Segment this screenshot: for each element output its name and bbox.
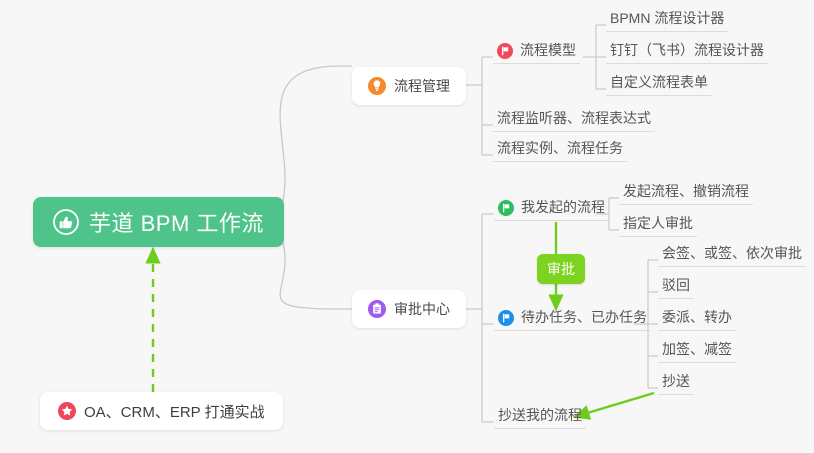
mindmap-canvas: 芋道 BPM 工作流 流程管理 流程模型 BPMN 流程设计器 钉钉（飞书）流程 [0, 0, 814, 453]
node-dingtalk-feishu-designer[interactable]: 钉钉（飞书）流程设计器 [606, 38, 768, 64]
node-process-model-label: 流程模型 [520, 41, 576, 59]
flag-icon [498, 200, 514, 216]
node-reject[interactable]: 驳回 [658, 273, 694, 299]
node-cc-to-me-label: 抄送我的流程 [498, 406, 582, 424]
node-process-model[interactable]: 流程模型 [493, 38, 580, 64]
integration-card-label: OA、CRM、ERP 打通实战 [84, 401, 265, 422]
flag-icon [497, 43, 513, 59]
connector-root-to-approval-center [280, 236, 352, 309]
node-start-cancel-label: 发起流程、撤销流程 [623, 182, 749, 200]
node-instance-task[interactable]: 流程实例、流程任务 [493, 136, 627, 162]
branch-process-management[interactable]: 流程管理 [352, 67, 466, 105]
node-start-cancel[interactable]: 发起流程、撤销流程 [619, 179, 753, 205]
node-add-remove-sign[interactable]: 加签、减签 [658, 337, 736, 363]
connector-root-to-process-management [280, 66, 352, 208]
node-bpmn-designer-label: BPMN 流程设计器 [610, 9, 724, 27]
approval-badge-label: 审批 [547, 259, 575, 279]
node-listener-expression[interactable]: 流程监听器、流程表达式 [493, 106, 655, 132]
node-countersign-label: 会签、或签、依次审批 [662, 244, 802, 262]
branch-process-management-label: 流程管理 [394, 76, 450, 96]
star-icon [58, 402, 76, 420]
node-instance-task-label: 流程实例、流程任务 [497, 139, 623, 157]
node-todo-done-label: 待办任务、已办任务 [521, 308, 647, 326]
node-delegate-transfer[interactable]: 委派、转办 [658, 305, 736, 331]
node-cc-label: 抄送 [662, 372, 690, 390]
branch-approval-center[interactable]: 审批中心 [352, 290, 466, 328]
node-assignee-approval[interactable]: 指定人审批 [619, 211, 697, 237]
integration-card[interactable]: OA、CRM、ERP 打通实战 [40, 392, 283, 430]
node-custom-process-form-label: 自定义流程表单 [610, 73, 708, 91]
node-delegate-transfer-label: 委派、转办 [662, 308, 732, 326]
node-countersign[interactable]: 会签、或签、依次审批 [658, 241, 806, 267]
lightbulb-icon [368, 77, 386, 95]
node-add-remove-sign-label: 加签、减签 [662, 340, 732, 358]
approval-badge: 审批 [537, 254, 585, 284]
node-todo-done[interactable]: 待办任务、已办任务 [494, 305, 651, 331]
node-dingtalk-feishu-designer-label: 钉钉（飞书）流程设计器 [610, 41, 764, 59]
node-reject-label: 驳回 [662, 276, 690, 294]
node-cc-to-me[interactable]: 抄送我的流程 [494, 403, 586, 429]
node-my-initiated[interactable]: 我发起的流程 [494, 195, 609, 221]
node-custom-process-form[interactable]: 自定义流程表单 [606, 70, 712, 96]
thumbs-up-icon [53, 209, 79, 235]
node-listener-expression-label: 流程监听器、流程表达式 [497, 109, 651, 127]
arrow-cc-to-cc-to-me [574, 393, 654, 417]
node-my-initiated-label: 我发起的流程 [521, 198, 605, 216]
flag-icon [498, 310, 514, 326]
node-bpmn-designer[interactable]: BPMN 流程设计器 [606, 6, 728, 32]
root-label: 芋道 BPM 工作流 [89, 206, 264, 238]
branch-approval-center-label: 审批中心 [394, 299, 450, 319]
clipboard-icon [368, 300, 386, 318]
node-cc[interactable]: 抄送 [658, 369, 694, 395]
node-assignee-approval-label: 指定人审批 [623, 214, 693, 232]
root-node[interactable]: 芋道 BPM 工作流 [33, 197, 284, 247]
